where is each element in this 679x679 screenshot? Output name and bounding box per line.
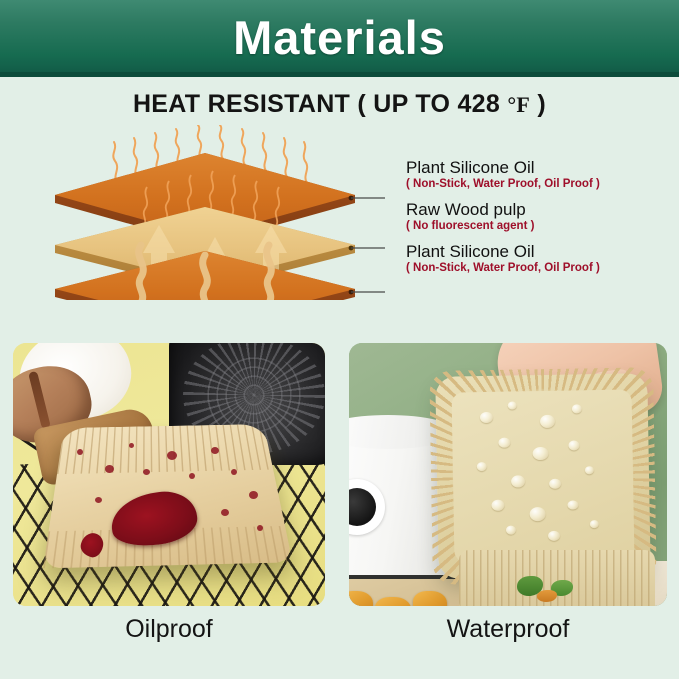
photo-row xyxy=(0,343,679,606)
air-fryer-dial xyxy=(349,479,385,535)
paper-liner-with-water xyxy=(435,373,650,579)
caption-waterproof: Waterproof xyxy=(349,612,667,646)
label-title: Plant Silicone Oil xyxy=(406,242,600,261)
waterproof-photo xyxy=(349,343,667,606)
oilproof-photo xyxy=(13,343,325,606)
heat-resistant-text: HEAT RESISTANT ( UP TO 428 °F ) xyxy=(0,90,679,119)
label-raw-wood-pulp: Raw Wood pulp ( No fluorescent agent ) xyxy=(406,200,534,233)
degree-fahrenheit: °F xyxy=(507,92,530,117)
infographic-page: Materials HEAT RESISTANT ( UP TO 428 °F … xyxy=(0,0,679,679)
header-underbar xyxy=(0,72,679,77)
header-banner: Materials xyxy=(0,0,679,77)
caption-oilproof: Oilproof xyxy=(13,612,325,646)
heat-suffix: ) xyxy=(530,90,546,118)
page-title: Materials xyxy=(233,14,446,61)
label-subtitle: ( Non-Stick, Water Proof, Oil Proof ) xyxy=(406,178,600,191)
label-title: Raw Wood pulp xyxy=(406,200,534,219)
label-subtitle: ( Non-Stick, Water Proof, Oil Proof ) xyxy=(406,262,600,275)
layer-diagram xyxy=(55,125,385,300)
label-subtitle: ( No fluorescent agent ) xyxy=(406,220,534,233)
label-plant-silicone-oil-top: Plant Silicone Oil ( Non-Stick, Water Pr… xyxy=(406,158,600,191)
heat-prefix: HEAT RESISTANT ( UP TO 428 xyxy=(133,90,507,118)
label-title: Plant Silicone Oil xyxy=(406,158,600,177)
label-plant-silicone-oil-bottom: Plant Silicone Oil ( Non-Stick, Water Pr… xyxy=(406,242,600,275)
photo-captions: Oilproof Waterproof xyxy=(0,612,679,658)
second-paper-liner xyxy=(459,550,655,606)
liner-flutes xyxy=(459,550,655,606)
leader-lines xyxy=(351,198,385,292)
